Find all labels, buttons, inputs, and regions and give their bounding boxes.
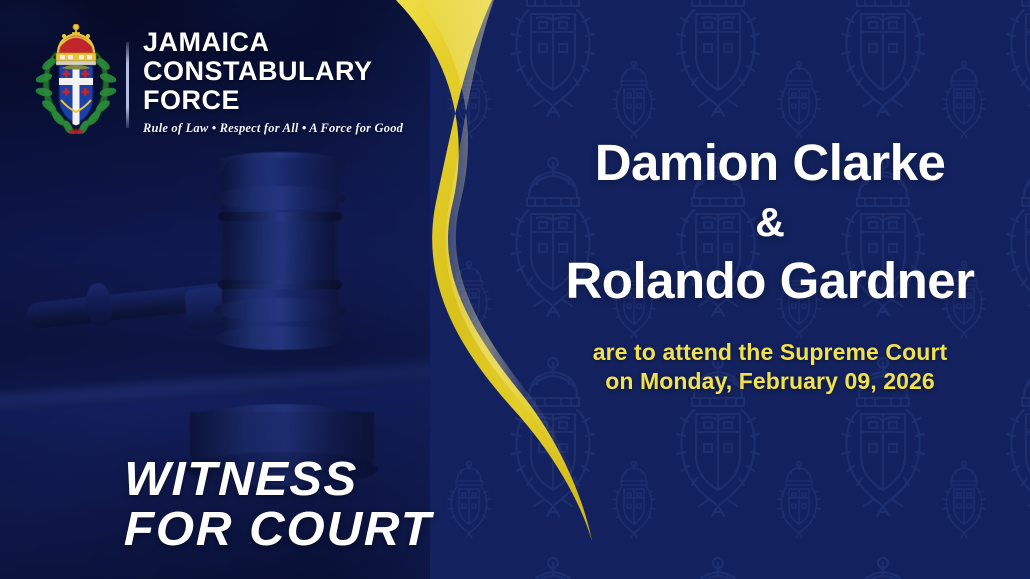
- court-notice-line1: are to attend the Supreme Court: [520, 338, 1020, 367]
- witness-headline-line2: FOR COURT: [124, 505, 433, 555]
- court-notice: are to attend the Supreme Court on Monda…: [520, 338, 1020, 396]
- subject-name-2: Rolando Gardner: [520, 250, 1020, 312]
- jamaica-constabulary-crest-icon: [34, 24, 118, 134]
- logo-line-force: FORCE: [143, 86, 403, 115]
- logo-line-constabulary: CONSTABULARY: [143, 57, 403, 86]
- jcf-logo-lockup: JAMAICA CONSTABULARY FORCE Rule of Law •…: [34, 24, 403, 136]
- witness-for-court-poster: JAMAICA CONSTABULARY FORCE Rule of Law •…: [0, 0, 1030, 579]
- subject-name-1: Damion Clarke: [520, 132, 1020, 194]
- logo-divider: [126, 42, 129, 128]
- logo-tagline: Rule of Law • Respect for All • A Force …: [143, 121, 403, 136]
- logo-wordmark: JAMAICA CONSTABULARY FORCE Rule of Law •…: [143, 24, 403, 136]
- logo-line-jamaica: JAMAICA: [143, 28, 403, 57]
- subject-names: Damion Clarke & Rolando Gardner: [520, 132, 1020, 312]
- court-notice-line2: on Monday, February 09, 2026: [520, 367, 1020, 396]
- witness-headline-line1: WITNESS: [124, 455, 433, 505]
- witness-for-court-banner: WITNESS FOR COURT: [124, 455, 426, 555]
- name-conjunction: &: [520, 194, 1020, 250]
